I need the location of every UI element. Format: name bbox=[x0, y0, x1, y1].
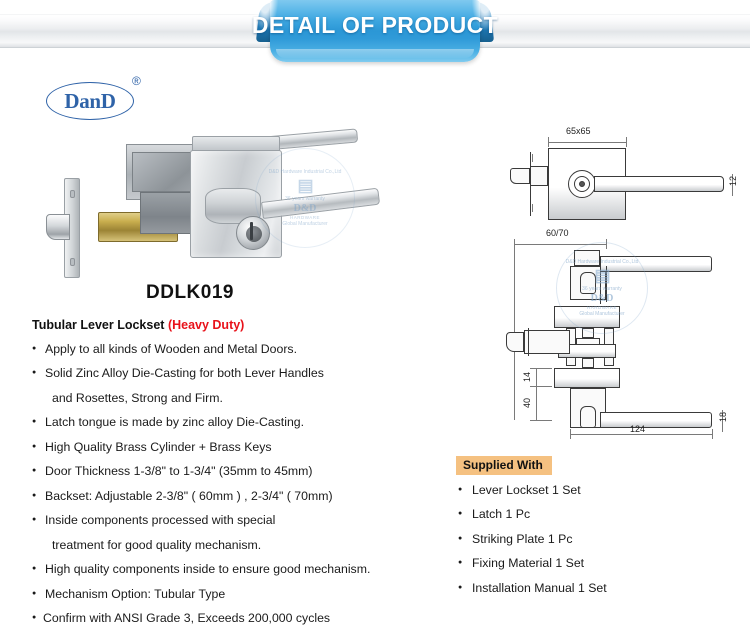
registered-trademark-icon: ® bbox=[132, 74, 141, 88]
brand-logo: DanD ® bbox=[46, 74, 166, 120]
lever-outline bbox=[594, 176, 724, 192]
latch-tail-outline bbox=[530, 166, 548, 186]
product-photo: D&D Hardware Industrial Co.,Ltd ▤ 36 yea… bbox=[40, 130, 340, 280]
dim-rosette-depth: 14 bbox=[522, 372, 532, 382]
keyway-outline bbox=[579, 181, 585, 187]
supplied-with-heading: Supplied With bbox=[456, 456, 552, 475]
supplied-item: Lever Lockset 1 Set bbox=[456, 482, 736, 499]
side-view-drawing: 60/70 14 40 124 18 D&D Hardware Industri… bbox=[470, 228, 740, 438]
supplied-with-section: Supplied With Lever Lockset 1 SetLatch 1… bbox=[456, 456, 736, 604]
feature-item: Backset: Adjustable 2-3/8" ( 60mm ) , 2-… bbox=[32, 488, 452, 505]
supplied-with-list: Lever Lockset 1 SetLatch 1 PcStriking Pl… bbox=[456, 482, 736, 597]
lower-lever-outline bbox=[600, 412, 712, 428]
dim-rosette-size: 65x65 bbox=[566, 126, 591, 136]
latch-body-outline bbox=[524, 330, 570, 354]
top-lever-outline bbox=[600, 256, 712, 272]
logo-text: DanD bbox=[64, 89, 115, 114]
banner-title: DETAIL OF PRODUCT bbox=[270, 0, 480, 50]
features-section: Tubular Lever Lockset (Heavy Duty) Apply… bbox=[32, 318, 452, 634]
feature-item: Inside components processed with special bbox=[32, 512, 452, 529]
top-view-drawing: 65x65 12 bbox=[470, 126, 740, 222]
supplied-item: Striking Plate 1 Pc bbox=[456, 531, 736, 548]
faceplate-screw-hole bbox=[70, 190, 75, 198]
logo-ellipse: DanD bbox=[46, 82, 134, 120]
page-banner: DETAIL OF PRODUCT bbox=[0, 0, 750, 68]
brass-cylinder-part bbox=[236, 216, 270, 250]
feature-item: Confirm with ANSI Grade 3, Exceeds 200,0… bbox=[32, 610, 452, 627]
feature-item: treatment for good quality mechanism. bbox=[32, 537, 452, 554]
watermark-brand-sub: HARDWARE bbox=[290, 215, 320, 221]
feature-item: Solid Zinc Alloy Die-Casting for both Le… bbox=[32, 365, 452, 382]
latch-bolt-part bbox=[46, 214, 70, 240]
watermark-manufacturer: Global Manufacturer bbox=[282, 221, 327, 227]
supplied-item: Fixing Material 1 Set bbox=[456, 555, 736, 572]
lower-hub-inner-outline bbox=[580, 406, 596, 428]
feature-item: High Quality Brass Cylinder + Brass Keys bbox=[32, 439, 452, 456]
dim-lever-height: 18 bbox=[718, 412, 728, 422]
lower-rosette-outline bbox=[554, 368, 620, 388]
features-list: Apply to all kinds of Wooden and Metal D… bbox=[32, 341, 452, 627]
features-title-highlight: (Heavy Duty) bbox=[168, 318, 244, 332]
dim-lever-thickness: 12 bbox=[728, 176, 738, 186]
dim-rosette-height: 40 bbox=[522, 398, 532, 408]
product-model-label: DDLK019 bbox=[40, 282, 340, 304]
features-title-main: Tubular Lever Lockset bbox=[32, 318, 164, 332]
keyway-part bbox=[250, 222, 253, 240]
feature-item: Latch tongue is made by zinc alloy Die-C… bbox=[32, 414, 452, 431]
supplied-item: Installation Manual 1 Set bbox=[456, 580, 736, 597]
mechanism-spindle-outline bbox=[582, 328, 594, 338]
feature-item: Apply to all kinds of Wooden and Metal D… bbox=[32, 341, 452, 358]
faceplate-screw-hole bbox=[70, 258, 75, 266]
top-cap-outline bbox=[574, 250, 600, 266]
supplied-item: Latch 1 Pc bbox=[456, 506, 736, 523]
feature-item: Mechanism Option: Tubular Type bbox=[32, 586, 452, 603]
feature-item: and Rosettes, Strong and Firm. bbox=[32, 390, 452, 407]
dim-lever-length: 124 bbox=[630, 424, 645, 434]
feature-item: High quality components inside to ensure… bbox=[32, 561, 452, 578]
watermark-logo-icon: ▤ bbox=[297, 175, 312, 196]
mechanism-spindle-lower-outline bbox=[582, 358, 594, 368]
upper-rosette-outline bbox=[554, 306, 620, 328]
latch-bolt-outline bbox=[510, 168, 530, 184]
dim-backset: 60/70 bbox=[546, 228, 569, 238]
features-title: Tubular Lever Lockset (Heavy Duty) bbox=[32, 318, 452, 332]
top-hub-inner-outline bbox=[580, 272, 596, 294]
latch-bolt-side-outline bbox=[506, 332, 524, 352]
feature-item: Door Thickness 1-3/8" to 1-3/4" (35mm to… bbox=[32, 463, 452, 480]
